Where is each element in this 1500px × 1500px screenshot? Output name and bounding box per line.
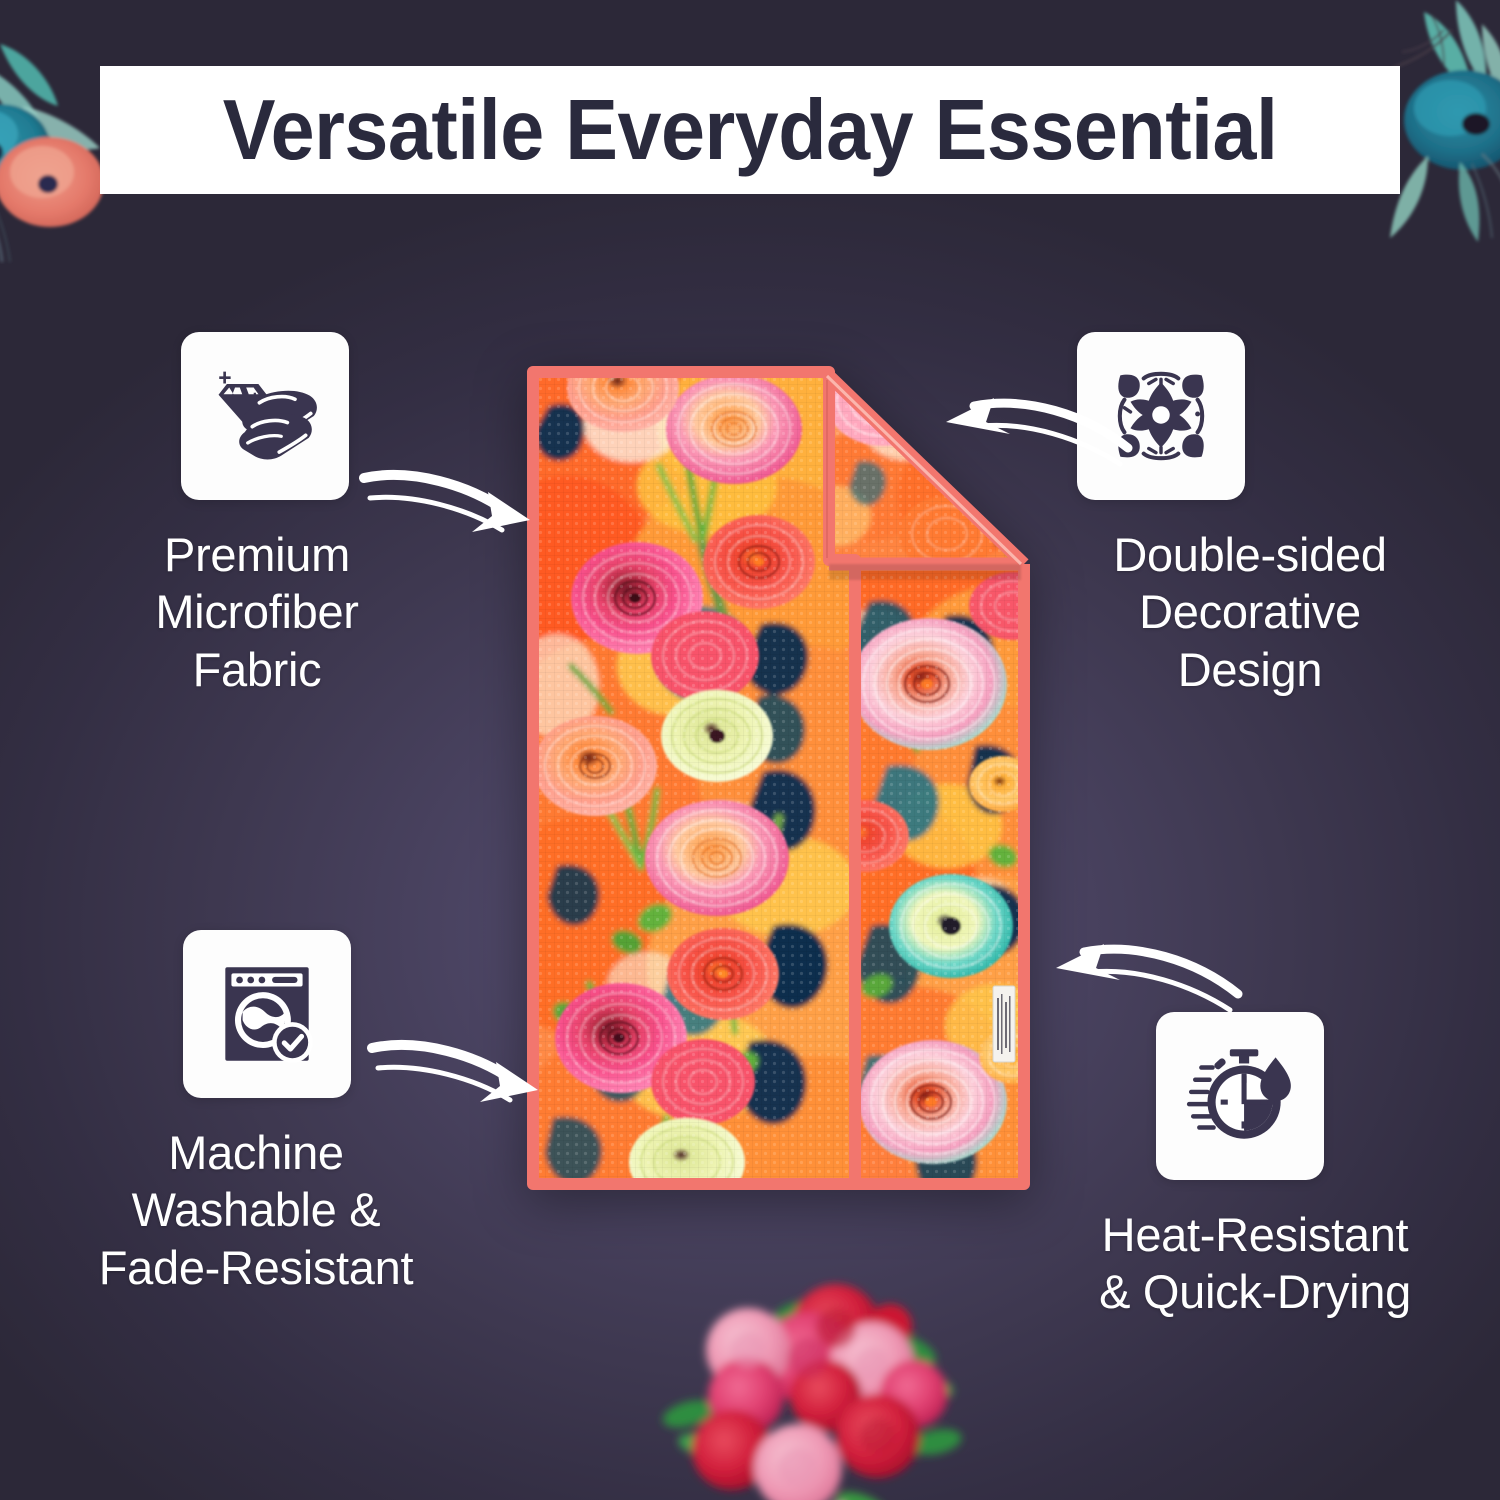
title-banner: Versatile Everyday Essential [100,66,1400,194]
washing-machine-check-icon [206,953,328,1075]
floral-mandala-icon [1100,355,1222,477]
product-image-towel [527,366,1030,1190]
double-sided-icon-tile [1077,332,1245,500]
rose-bouquet-bottom-center-decoration [640,1254,980,1500]
stopwatch-droplet-icon [1179,1035,1301,1157]
care-label-tag [993,986,1015,1062]
premium-fabric-icon-tile [181,332,349,500]
infographic-canvas: Versatile Everyday Essential [0,0,1500,1500]
diamond-folded-towels-icon [204,355,326,477]
feature-machine-washable-fade-resistant: Machine Washable & Fade-Resistant [56,930,456,1296]
heat-resistant-icon-tile [1156,1012,1324,1180]
feature-machine-washable-label: Machine Washable & Fade-Resistant [99,1124,414,1296]
feature-heat-resistant-quick-drying: Heat-Resistant & Quick-Drying [1040,1012,1470,1321]
feature-premium-label: Premium Microfiber Fabric [155,526,358,698]
machine-washable-icon-tile [183,930,351,1098]
page-title: Versatile Everyday Essential [223,88,1278,173]
feature-double-sided-decorative-design: Double-sided Decorative Design [1040,332,1460,698]
feature-premium-microfiber-fabric: Premium Microfiber Fabric [62,332,452,698]
feature-double-sided-label: Double-sided Decorative Design [1113,526,1386,698]
feature-heat-resistant-label: Heat-Resistant & Quick-Drying [1099,1206,1411,1321]
